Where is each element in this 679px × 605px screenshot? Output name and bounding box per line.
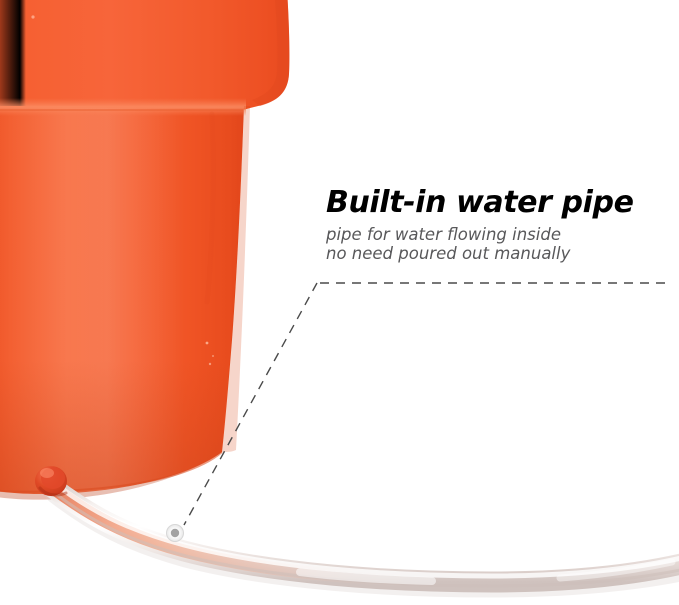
callout-text-block: Built-in water pipe pipe for water flowi… [326, 186, 666, 263]
bucket-seam-highlight [0, 98, 246, 116]
grommet-highlight [40, 468, 54, 478]
bucket-speck-b [206, 342, 209, 345]
callout-subtitle-line-2: no need poured out manually [326, 244, 666, 263]
callout-title: Built-in water pipe [326, 186, 666, 220]
product-photo-canvas [0, 0, 679, 605]
callout-subtitle-line-1: pipe for water flowing inside [326, 225, 666, 244]
product-callout-image: Built-in water pipe pipe for water flowi… [0, 0, 679, 605]
water-outlet-grommet [35, 466, 67, 496]
bucket-shape [0, 0, 289, 500]
bucket-speck-c [209, 363, 211, 365]
marker-inner-dot [171, 529, 179, 537]
bucket-speck-d [212, 355, 214, 357]
bucket-speck-a [31, 15, 34, 18]
callout-target-marker[interactable] [167, 525, 184, 542]
callout-leader-line [184, 283, 665, 525]
